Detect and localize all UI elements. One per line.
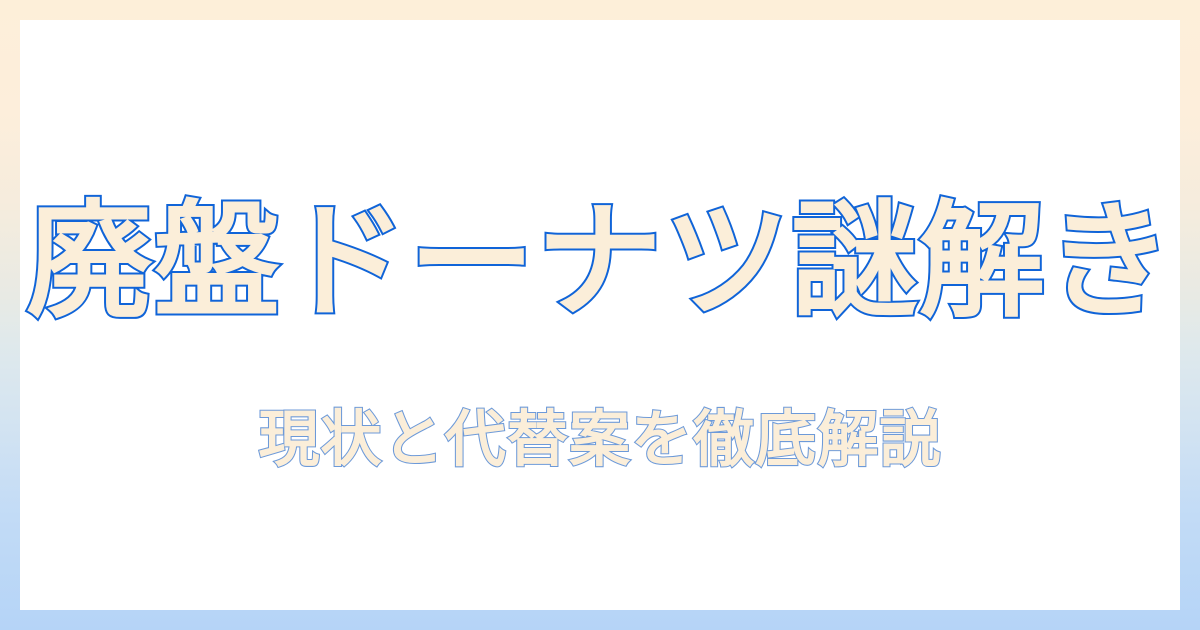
content-card: 廃盤ドーナツ謎解き 現状と代替案を徹底解説 bbox=[20, 20, 1180, 610]
title-block: 廃盤ドーナツ謎解き bbox=[20, 188, 1180, 337]
page-title: 廃盤ドーナツ謎解き bbox=[26, 188, 1174, 337]
page-subtitle: 現状と代替案を徹底解説 bbox=[258, 403, 941, 476]
subtitle-block: 現状と代替案を徹底解説 bbox=[20, 403, 1180, 476]
ogp-canvas: 廃盤ドーナツ謎解き 現状と代替案を徹底解説 bbox=[0, 0, 1200, 630]
